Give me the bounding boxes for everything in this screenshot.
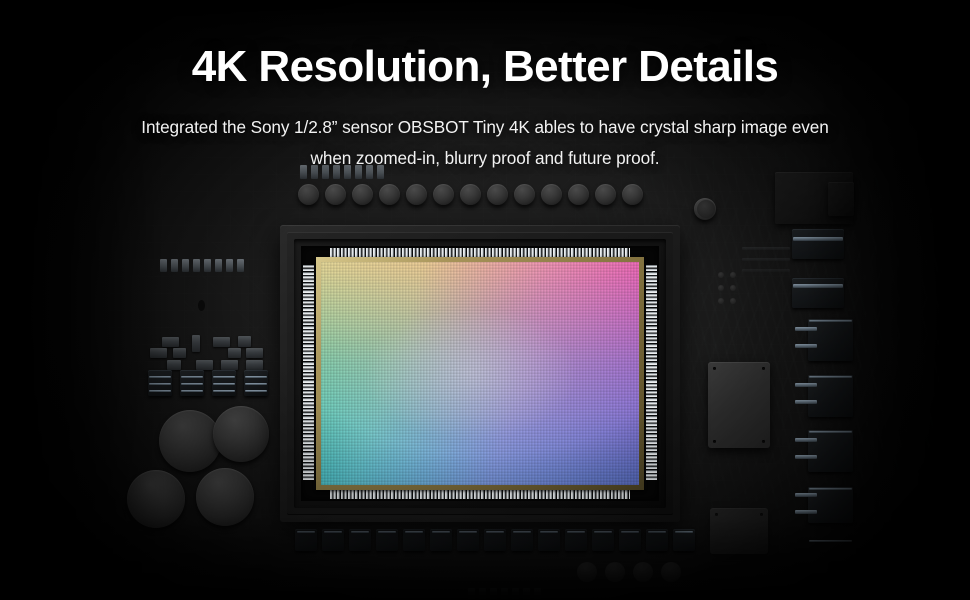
page-subtitle: Integrated the Sony 1/2.8” sensor OBSBOT… (127, 112, 843, 174)
image-sensor (280, 225, 680, 522)
sensor-pin-row-left (303, 265, 314, 480)
die-sheen (321, 262, 639, 485)
sensor-gold-bezel (316, 257, 644, 490)
product-banner: 4K Resolution, Better Details Integrated… (0, 0, 970, 600)
page-title: 4K Resolution, Better Details (0, 44, 970, 90)
shield-plate (708, 362, 770, 448)
sensor-pin-row-right (646, 265, 657, 480)
sensor-die (321, 262, 639, 485)
